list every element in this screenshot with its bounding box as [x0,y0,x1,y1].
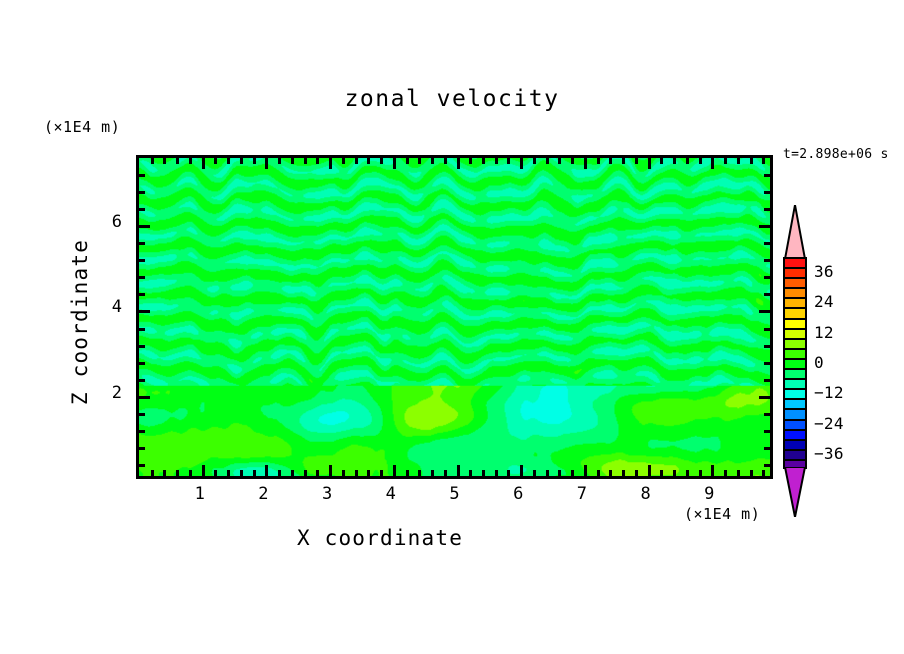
colorbar-band [785,330,805,340]
axis-tick [342,158,345,164]
axis-tick [291,158,294,164]
axis-tick [253,158,256,164]
axis-tick [139,413,145,416]
axis-tick [759,396,770,399]
axis-tick [507,470,510,476]
axis-tick [764,447,770,450]
axis-tick [764,328,770,331]
x-tick-label: 7 [567,484,597,504]
axis-tick [558,470,561,476]
axis-tick [418,470,421,476]
colorbar-band [785,299,805,309]
axis-tick [431,470,434,476]
axis-tick [660,470,663,476]
x-tick-label: 4 [376,484,406,504]
colorbar-tick-label: 24 [814,292,834,311]
axis-tick [764,293,770,296]
axis-tick [139,174,145,177]
axis-tick [355,470,358,476]
axis-tick [764,276,770,279]
axis-tick [764,362,770,365]
axis-tick [342,470,345,476]
axis-tick [469,158,472,164]
x-tick-label: 5 [440,484,470,504]
axis-tick [304,158,307,164]
axis-tick [609,158,612,164]
y-tick-label: 2 [96,383,122,403]
y-tick-label: 6 [96,212,122,232]
colorbar-band [785,390,805,400]
page-title: zonal velocity [0,86,904,112]
colorbar-band [785,410,805,420]
colorbar-cap-bottom-icon [783,467,807,517]
axis-tick [406,470,409,476]
x-tick-label: 1 [185,484,215,504]
x-tick-label: 3 [312,484,342,504]
axis-tick [622,470,625,476]
axis-tick [764,259,770,262]
colorbar-band [785,360,805,370]
axis-tick [764,208,770,211]
axis-tick [546,158,549,164]
axis-tick [762,470,765,476]
colorbar-band [785,269,805,279]
x-tick-label: 9 [694,484,724,504]
x-tick-label: 8 [631,484,661,504]
axis-tick [139,259,145,262]
x-tick-label: 6 [503,484,533,504]
axis-tick [764,379,770,382]
axis-tick [597,158,600,164]
axis-tick [139,191,145,194]
colorbar-band [785,431,805,441]
axis-tick [189,470,192,476]
axis-tick [139,276,145,279]
axis-tick [699,470,702,476]
axis-tick [507,158,510,164]
axis-tick [240,470,243,476]
axis-tick [764,345,770,348]
axis-tick [673,470,676,476]
axis-tick [329,158,332,169]
colorbar [783,205,807,516]
axis-tick [202,158,205,169]
x-tick-label: 2 [248,484,278,504]
axis-tick [533,158,536,164]
axis-tick [737,470,740,476]
axis-tick [139,464,145,467]
figure-canvas: zonal velocity (×1E4 m) (×1E4 m) X coord… [0,0,904,654]
colorbar-band [785,451,805,461]
axis-tick [571,158,574,164]
axis-tick [495,470,498,476]
axis-tick [418,158,421,164]
axis-tick [609,470,612,476]
axis-tick [699,158,702,164]
timestamp-annotation: t=2.898e+06 s [783,147,889,162]
colorbar-tick-label: −24 [814,414,844,433]
axis-tick [304,470,307,476]
axis-tick [584,465,587,476]
colorbar-tick-label: 12 [814,323,834,342]
axis-tick [406,158,409,164]
axis-tick [750,470,753,476]
colorbar-band [785,380,805,390]
contour-field [139,158,770,476]
axis-tick [648,158,651,169]
axis-tick [673,158,676,164]
axis-tick [431,158,434,164]
axis-tick [202,465,205,476]
axis-tick [214,158,217,164]
colorbar-band [785,370,805,380]
colorbar-band [785,259,805,269]
axis-tick [367,158,370,164]
axis-tick [635,158,638,164]
axis-tick [139,242,145,245]
axis-tick [762,158,765,164]
axis-tick [750,158,753,164]
axis-tick [189,158,192,164]
axis-tick [444,470,447,476]
axis-tick [764,242,770,245]
axis-tick [444,158,447,164]
colorbar-band [785,400,805,410]
x-axis-title: X coordinate [0,526,760,550]
axis-tick [139,396,150,399]
axis-tick [686,470,689,476]
colorbar-tick-label: −12 [814,383,844,402]
axis-tick [764,174,770,177]
axis-tick [724,470,727,476]
axis-tick [764,413,770,416]
axis-tick [457,158,460,169]
axis-tick [214,470,217,476]
colorbar-band [785,309,805,319]
colorbar-band [785,289,805,299]
axis-tick [316,158,319,164]
axis-tick [482,158,485,164]
axis-tick [558,158,561,164]
colorbar-band [785,320,805,330]
axis-tick [151,470,154,476]
axis-tick [482,470,485,476]
axis-tick [265,158,268,169]
axis-tick [457,465,460,476]
axis-tick [139,225,150,228]
plot-area [136,155,773,479]
axis-tick [139,345,145,348]
axis-tick [759,225,770,228]
axis-tick [253,470,256,476]
colorbar-tick-label: −36 [814,444,844,463]
axis-tick [393,158,396,169]
colorbar-cap-top-icon [783,205,807,259]
axis-tick [176,158,179,164]
axis-tick [393,465,396,476]
axis-tick [367,470,370,476]
axis-tick [380,470,383,476]
axis-tick [291,470,294,476]
axis-tick [495,158,498,164]
y-axis-title: Z coordinate [68,212,92,432]
axis-tick [139,293,145,296]
axis-tick [469,470,472,476]
colorbar-band [785,350,805,360]
axis-tick [329,465,332,476]
colorbar-band [785,421,805,431]
axis-tick [139,447,145,450]
colorbar-tick-label: 36 [814,262,834,281]
axis-tick [163,158,166,164]
axis-tick [597,470,600,476]
axis-tick [380,158,383,164]
axis-tick [355,158,358,164]
axis-tick [227,158,230,164]
axis-tick [139,379,145,382]
axis-tick [711,465,714,476]
colorbar-band [785,441,805,451]
axis-tick [240,158,243,164]
axis-tick [278,158,281,164]
axis-tick [227,470,230,476]
axis-tick [265,465,268,476]
axis-tick [764,430,770,433]
colorbar-band [785,279,805,289]
axis-tick [635,470,638,476]
axis-tick [139,430,145,433]
axis-tick [139,328,145,331]
axis-tick [176,470,179,476]
axis-tick [520,158,523,169]
axis-tick [151,158,154,164]
axis-tick [139,208,145,211]
axis-tick [533,470,536,476]
axis-tick [759,310,770,313]
axis-tick [316,470,319,476]
axis-tick [139,362,145,365]
axis-tick [163,470,166,476]
axis-tick [711,158,714,169]
x-axis-unit-label: (×1E4 m) [684,505,760,523]
axis-tick [546,470,549,476]
axis-tick [648,465,651,476]
colorbar-tick-label: 0 [814,353,824,372]
axis-tick [278,470,281,476]
axis-tick [686,158,689,164]
colorbar-band [785,340,805,350]
y-axis-unit-label: (×1E4 m) [44,118,120,136]
axis-tick [139,310,150,313]
axis-tick [660,158,663,164]
axis-tick [520,465,523,476]
axis-tick [737,158,740,164]
axis-tick [764,191,770,194]
y-tick-label: 4 [96,297,122,317]
axis-tick [724,158,727,164]
axis-tick [764,464,770,467]
axis-tick [584,158,587,169]
axis-tick [571,470,574,476]
axis-tick [622,158,625,164]
colorbar-bands [783,257,807,469]
